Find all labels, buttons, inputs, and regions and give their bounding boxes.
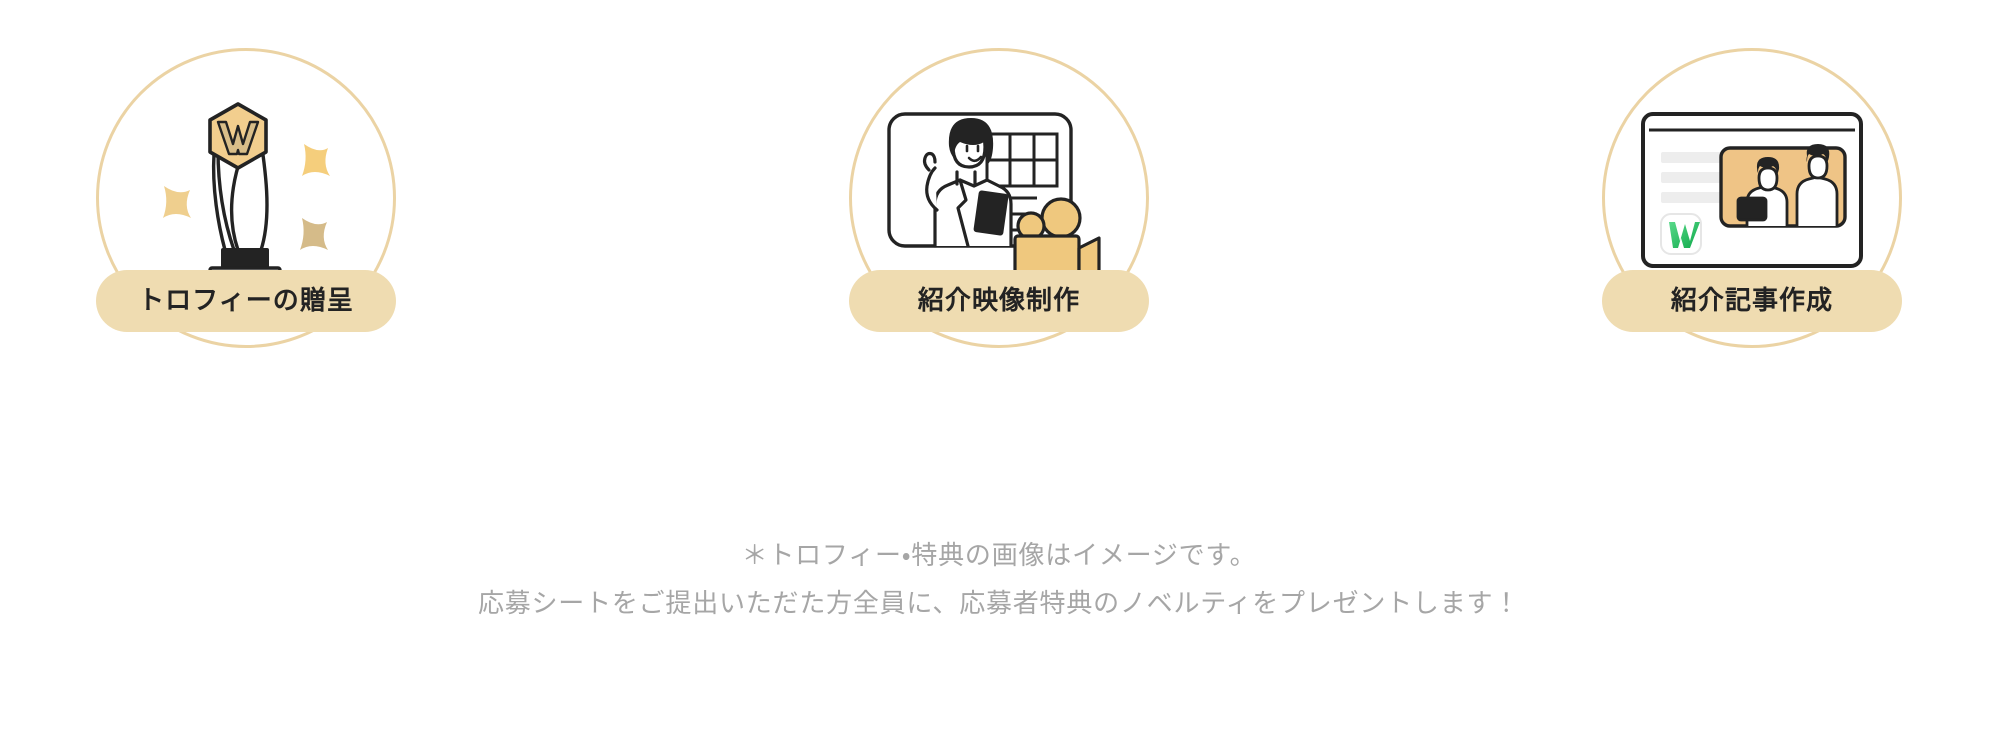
benefit-label-text: 紹介映像制作	[918, 288, 1080, 314]
placeholder-text-lines	[1661, 152, 1723, 203]
benefit-cards-row: トロフィーの贈呈	[0, 0, 1998, 500]
hexagon-badge	[210, 104, 266, 168]
footnotes: ＊トロフィー・特典の画像はイメージです。 応募シートをご提出いただた方全員に、応…	[0, 532, 1998, 628]
benefit-label-text: トロフィーの贈呈	[138, 288, 354, 314]
photo-thumbnail	[1721, 144, 1845, 226]
benefits-section: トロフィーの贈呈	[0, 0, 1998, 732]
benefit-label-text: 紹介記事作成	[1671, 288, 1833, 314]
benefit-card-video: 紹介映像制作	[849, 0, 1149, 420]
w-logo-tile	[1661, 214, 1701, 254]
benefit-card-article: 紹介記事作成	[1602, 0, 1902, 420]
footnote-line-1: ＊トロフィー・特典の画像はイメージです。	[0, 532, 1998, 580]
benefit-card-trophy: トロフィーの贈呈	[96, 0, 396, 420]
benefit-label-article[interactable]: 紹介記事作成	[1602, 270, 1902, 332]
benefit-label-video[interactable]: 紹介映像制作	[849, 270, 1149, 332]
footnote-line-2: 応募シートをご提出いただた方全員に、応募者特典のノベルティをプレゼントします！	[0, 580, 1998, 628]
benefit-label-trophy[interactable]: トロフィーの贈呈	[96, 270, 396, 332]
